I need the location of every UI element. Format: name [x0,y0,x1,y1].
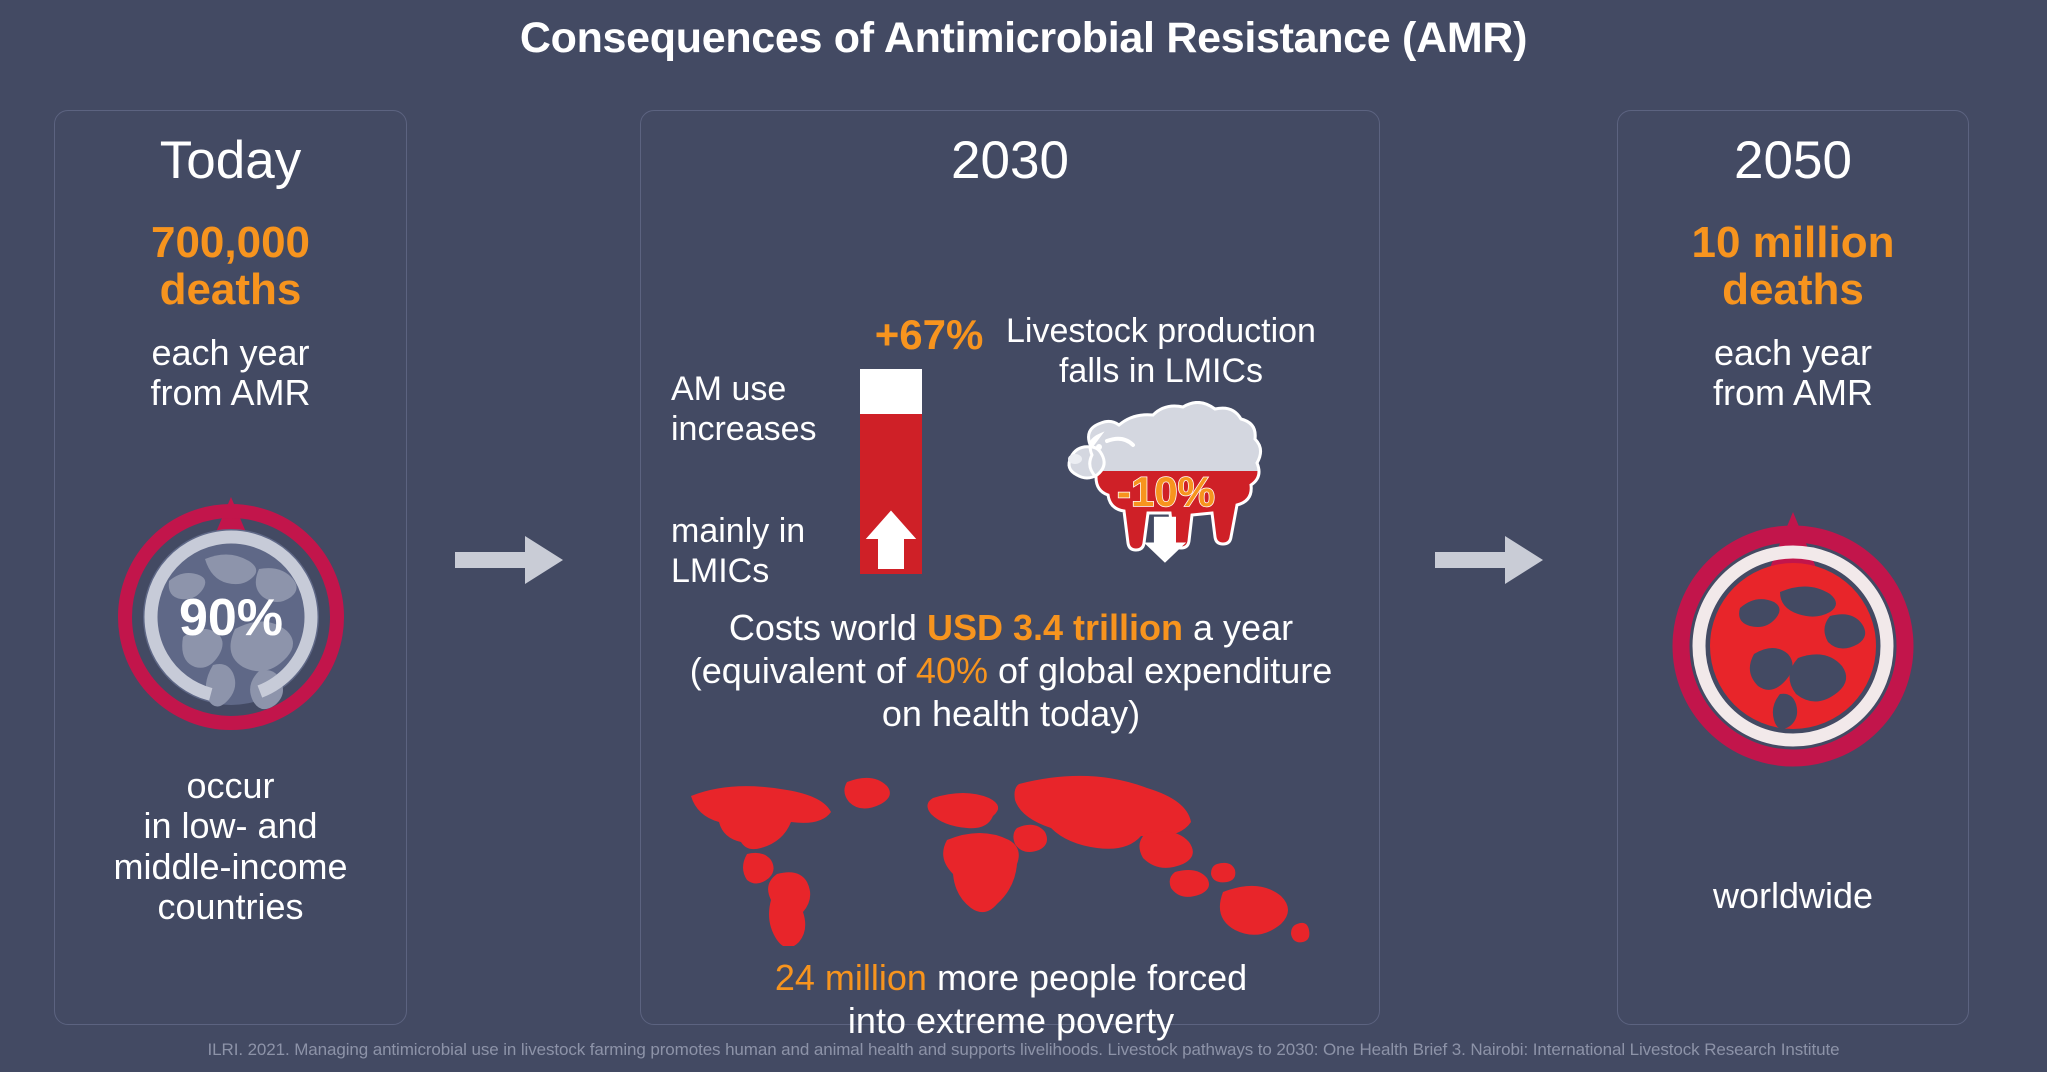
infographic-root: Consequences of Antimicrobial Resistance… [0,0,2047,1072]
y2050-sub-block: each year from AMR [1618,333,1968,414]
y2050-bottom-block: worldwide [1618,876,1968,916]
am-use-thermometer-icon [860,369,922,504]
poverty-highlight: 24 million [775,957,927,998]
am-use-label-line-3: mainly in [671,511,876,551]
today-bottom-block: occur in low- and middle-income countrie… [55,766,406,927]
right-arrow-icon-2 [1435,530,1545,590]
panel-2050: 2050 10 million deaths each year from AM… [1617,110,1969,1025]
costs-highlight-usd: USD 3.4 trillion [927,607,1183,648]
am-use-label-line-1: AM use [671,369,876,409]
costs-line-1-post: a year [1183,607,1293,648]
livestock-percent-label: -10% [1117,468,1215,515]
today-bottom-line-2: in low- and [55,806,406,846]
poverty-line-1: 24 million more people forced [649,956,1373,999]
am-use-label-top: AM use increases [671,369,876,449]
gauge-value-label: 90% [178,589,282,647]
today-sub-line-1: each year [55,333,406,373]
livestock-label-line-1: Livestock production [961,311,1361,351]
poverty-line-1-post: more people forced [927,957,1247,998]
y2050-stat-block: 10 million deaths [1618,219,1968,313]
world-map-icon [651,766,1371,946]
costs-line-2-post: of global expenditure [988,650,1332,691]
costs-line-2-pre: (equivalent of [690,650,916,691]
up-arrow-icon [860,504,922,574]
globe-gauge-icon: 90% [109,489,353,733]
y2050-sub-line-1: each year [1618,333,1968,373]
globe-red-icon [1662,506,1924,768]
costs-highlight-pct: 40% [916,650,988,691]
y2050-bottom-line-1: worldwide [1618,876,1968,916]
sheep-icon: -10% [1051,401,1281,571]
y2050-sub-line-2: from AMR [1618,373,1968,413]
today-sub-line-2: from AMR [55,373,406,413]
panel-today: Today 700,000 deaths each year from AMR [54,110,407,1025]
poverty-block: 24 million more people forced into extre… [649,956,1373,1042]
costs-line-2: (equivalent of 40% of global expenditure [649,649,1373,692]
livestock-label-line-2: falls in LMICs [961,351,1361,391]
panel-today-year: Today [55,133,406,189]
panel-2050-year: 2050 [1618,133,1968,189]
today-stat-line-1: 700,000 [55,219,406,266]
panel-2030: 2030 AM use increases mainly in LMICs +6… [640,110,1380,1025]
am-use-label-line-2: increases [671,409,876,449]
livestock-label: Livestock production falls in LMICs [961,311,1361,391]
footer-citation: ILRI. 2021. Managing antimicrobial use i… [0,1040,2047,1060]
costs-line-3: on health today) [649,692,1373,735]
costs-line-1: Costs world USD 3.4 trillion a year [649,606,1373,649]
right-arrow-icon [455,530,565,590]
today-bottom-line-4: countries [55,887,406,927]
y2050-stat-line-2: deaths [1618,266,1968,313]
am-use-label-line-4: LMICs [671,551,876,591]
today-bottom-line-1: occur [55,766,406,806]
panel-2030-year: 2030 [641,133,1379,189]
today-stat-block: 700,000 deaths [55,219,406,313]
poverty-line-2: into extreme poverty [649,999,1373,1042]
am-use-label-bottom: mainly in LMICs [671,511,876,591]
today-stat-line-2: deaths [55,266,406,313]
costs-block: Costs world USD 3.4 trillion a year (equ… [649,606,1373,736]
today-bottom-line-3: middle-income [55,847,406,887]
costs-line-1-pre: Costs world [729,607,927,648]
today-sub-block: each year from AMR [55,333,406,414]
y2050-stat-line-1: 10 million [1618,219,1968,266]
page-title: Consequences of Antimicrobial Resistance… [0,14,2047,63]
